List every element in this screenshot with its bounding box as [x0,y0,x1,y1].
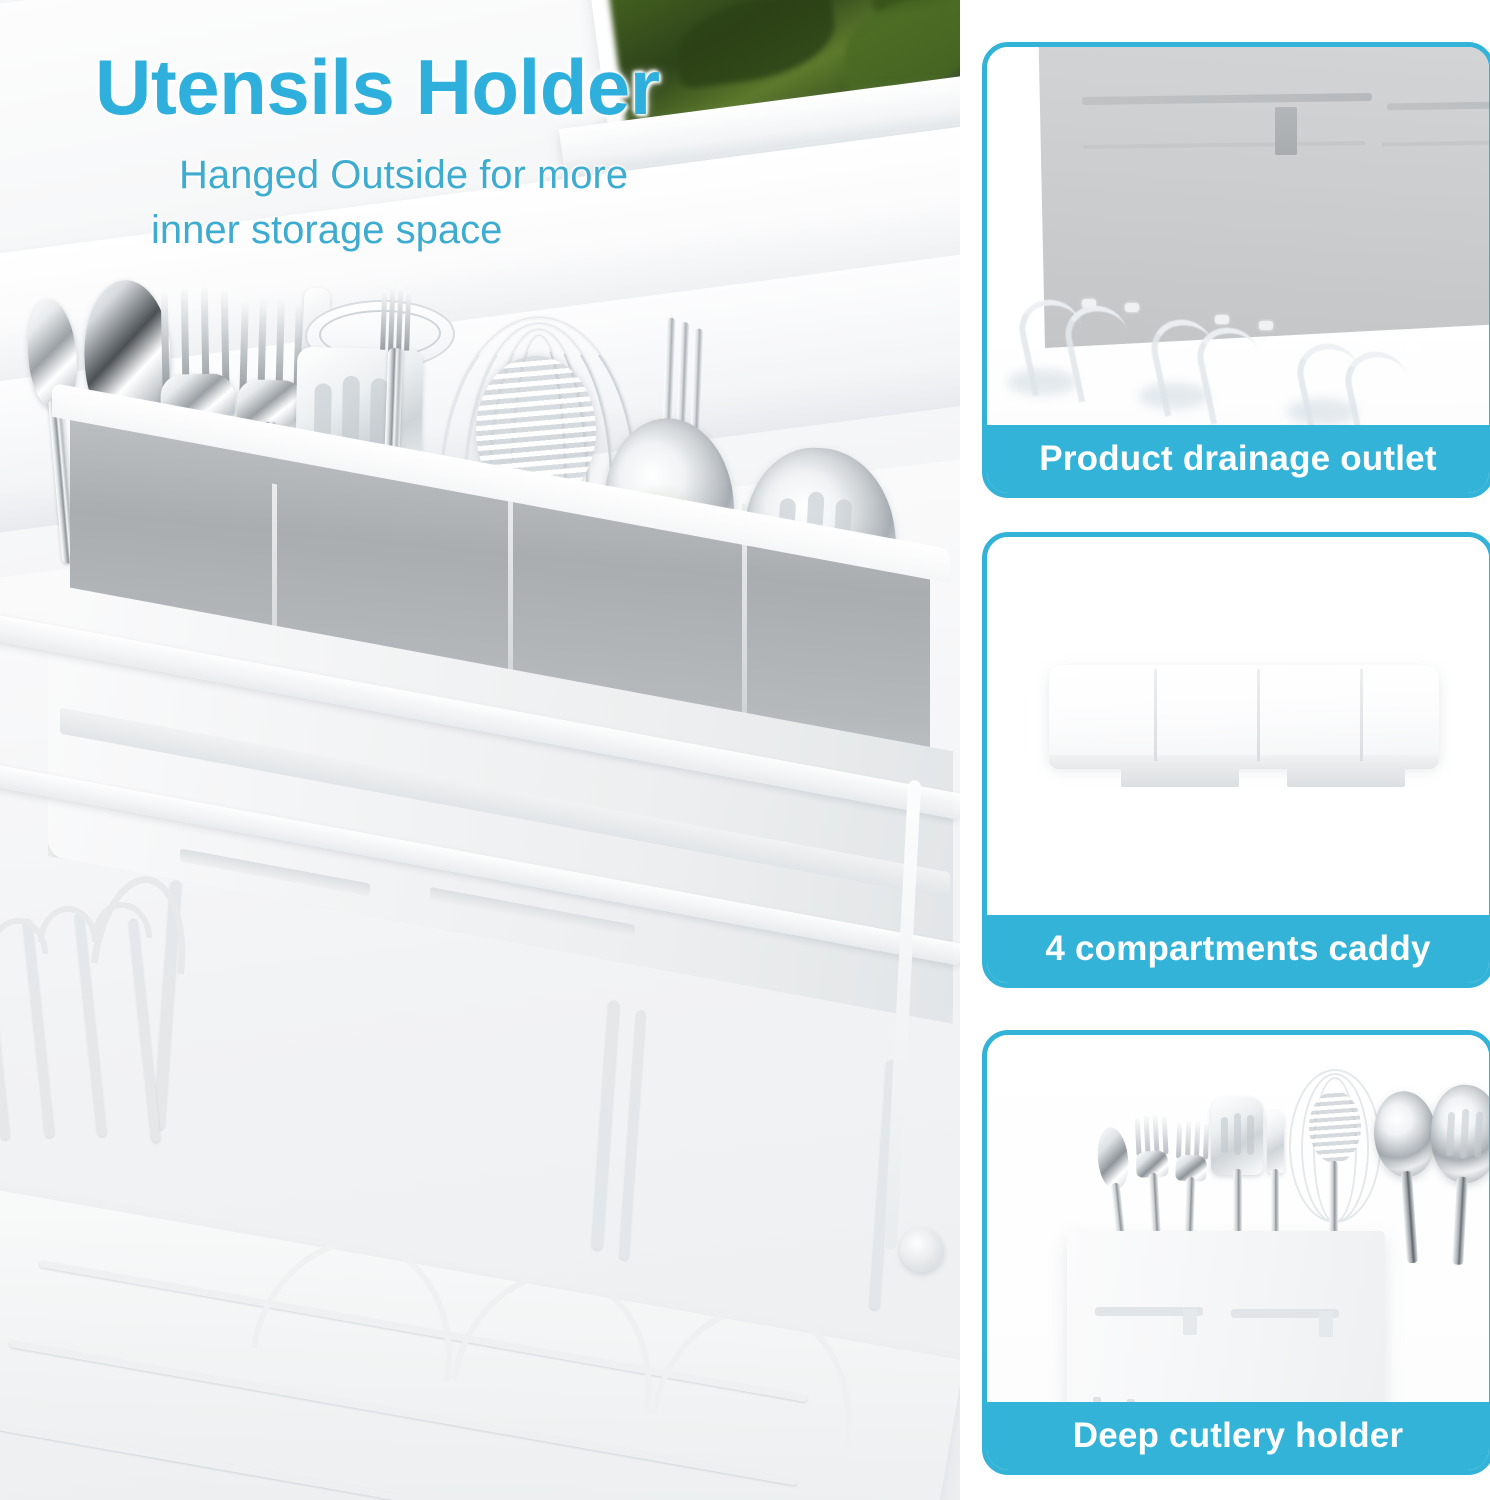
feature-card-compartments[interactable]: 4 compartments caddy [982,532,1490,988]
drainage-hole-2 [1125,303,1139,312]
product-infographic: Utensils Holder Hanged Outside for more … [0,0,1490,1500]
page-title: Utensils Holder [95,48,895,126]
drainage-label-bar: Product drainage outlet [987,425,1489,493]
cutlery-label-bar: Deep cutlery holder [987,1402,1489,1470]
mini-utensil-serving-spoon [1424,1083,1489,1265]
mini-utensil-fork-1 [1132,1116,1177,1248]
rack-side-rail [884,780,922,1250]
hero-subtitle: Hanged Outside for more inner storage sp… [95,148,895,258]
rack-post-mid [591,1000,619,1250]
cutlery-holder-photo [987,1035,1489,1402]
rack-rail-top [0,610,960,820]
rack-pivot-knob [900,1228,944,1272]
drainage-hole-5 [1361,335,1375,344]
caddy-compartment-divider-2 [1257,669,1260,761]
mini-utensil-turner [1265,1111,1287,1251]
caddy-compartment-divider-1 [1154,669,1157,761]
drainage-label-text: Product drainage outlet [1039,439,1436,479]
cutlery-holder-tab-right [1319,1311,1333,1337]
water-spray-2 [1139,383,1209,409]
caddy-compartment-divider-3 [1360,669,1363,761]
mini-utensil-slotted-spatula [1211,1097,1265,1247]
holder-tab [1275,107,1297,155]
water-spray-3 [1287,399,1357,425]
compartments-label-text: 4 compartments caddy [1045,929,1430,969]
rack-post-mid2 [619,1010,645,1260]
feature-card-drainage[interactable]: Product drainage outlet [982,42,1490,498]
caddy-body [1049,665,1439,765]
drainage-hole-3 [1215,315,1229,324]
cutlery-holder-tab-left [1183,1309,1197,1335]
compartment-caddy-photo [987,537,1489,915]
drainage-hole-6 [1405,343,1419,352]
mini-utensil-whisk [1287,1069,1379,1255]
feature-cards-column: Product drainage outlet 4 compartments c… [960,0,1490,1500]
drainage-photo [987,47,1489,425]
water-spray-1 [1007,369,1077,395]
drainage-hole-4 [1259,321,1273,330]
cutlery-label-text: Deep cutlery holder [1073,1416,1404,1456]
rack-plate-wire-1 [0,930,10,1140]
dish-drying-rack [0,600,960,1500]
caddy-foot-right [1287,767,1405,787]
hero-subtitle-line-1: Hanged Outside for more [95,148,895,203]
hero-subtitle-line-2: inner storage space [95,203,895,258]
feature-card-cutlery[interactable]: Deep cutlery holder [982,1030,1490,1475]
rack-scallop-2 [38,906,98,942]
compartments-label-bar: 4 compartments caddy [987,915,1489,983]
caddy-foot-left [1121,767,1239,787]
hero-product-photo: Utensils Holder Hanged Outside for more … [0,0,960,1500]
hero-text-block: Utensils Holder Hanged Outside for more … [95,48,895,258]
